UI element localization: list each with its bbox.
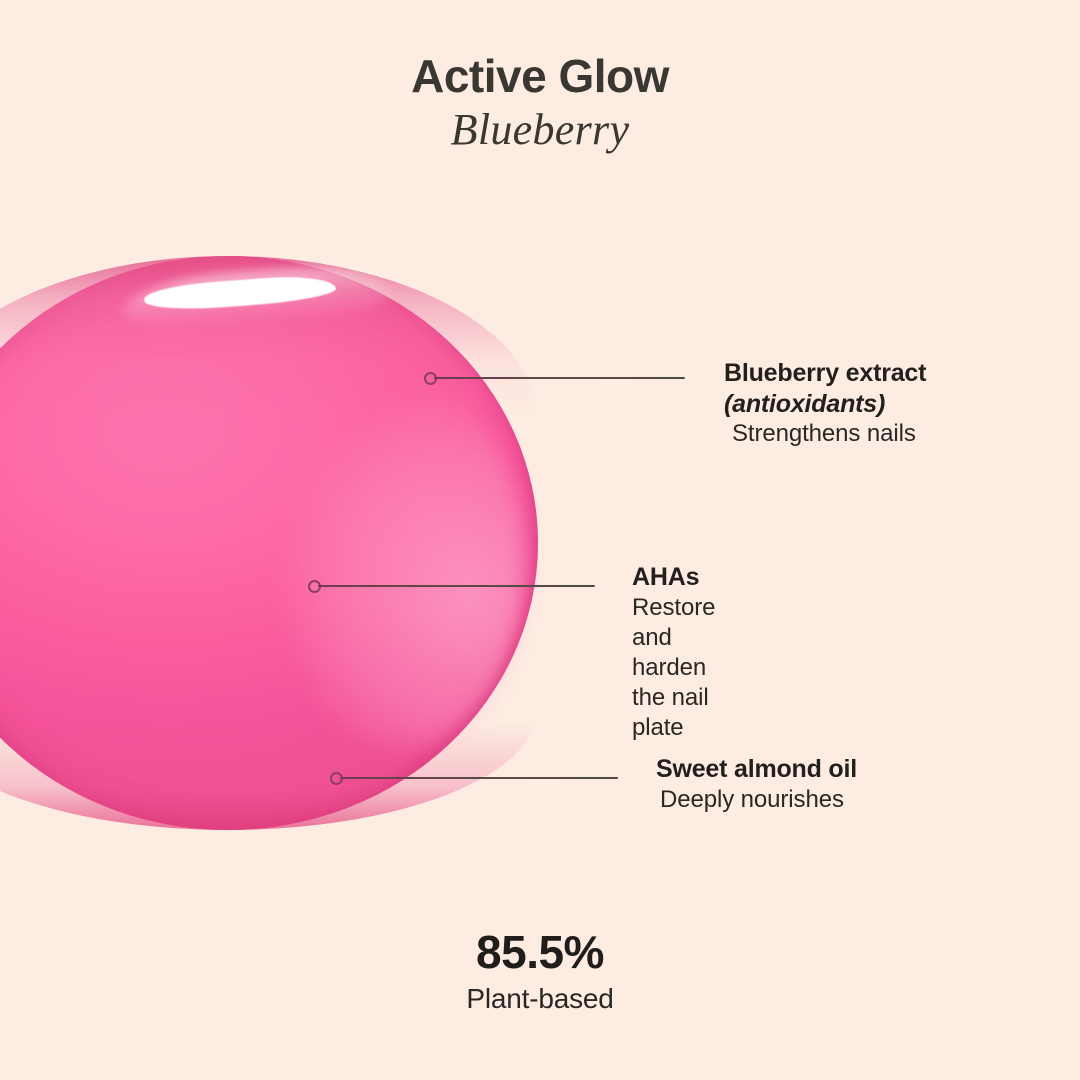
callout-title: AHAs (632, 562, 715, 593)
callout-title: Sweet almond oil (656, 754, 857, 785)
callout-title: Blueberry extract (724, 358, 926, 389)
callout-description: Deeply nourishes (656, 785, 857, 815)
callout-leader-line (318, 585, 595, 587)
page-title: Active Glow (0, 52, 1080, 102)
callout-description-line-2: the nail plate (632, 683, 715, 743)
droplet-body (0, 256, 538, 830)
polish-droplet (0, 256, 538, 830)
product-variant-name: Blueberry (0, 104, 1080, 156)
callout-description: Strengthens nails (724, 419, 926, 449)
callout-leader-line (340, 777, 618, 779)
callout-text-block: Blueberry extract (antioxidants) Strengt… (724, 358, 926, 449)
callout-title-qualifier: (antioxidants) (724, 389, 926, 420)
stat-value: 85.5% (0, 928, 1080, 978)
callout-text-block: AHAs Restore and harden the nail plate (632, 562, 715, 743)
callout-leader-line (434, 377, 685, 379)
plant-based-stat: 85.5% Plant-based (0, 928, 1080, 1015)
product-header: Active Glow Blueberry (0, 52, 1080, 156)
callout-text-block: Sweet almond oil Deeply nourishes (656, 754, 857, 815)
stat-label: Plant-based (0, 982, 1080, 1016)
callout-description-line-1: Restore and harden (632, 593, 715, 683)
